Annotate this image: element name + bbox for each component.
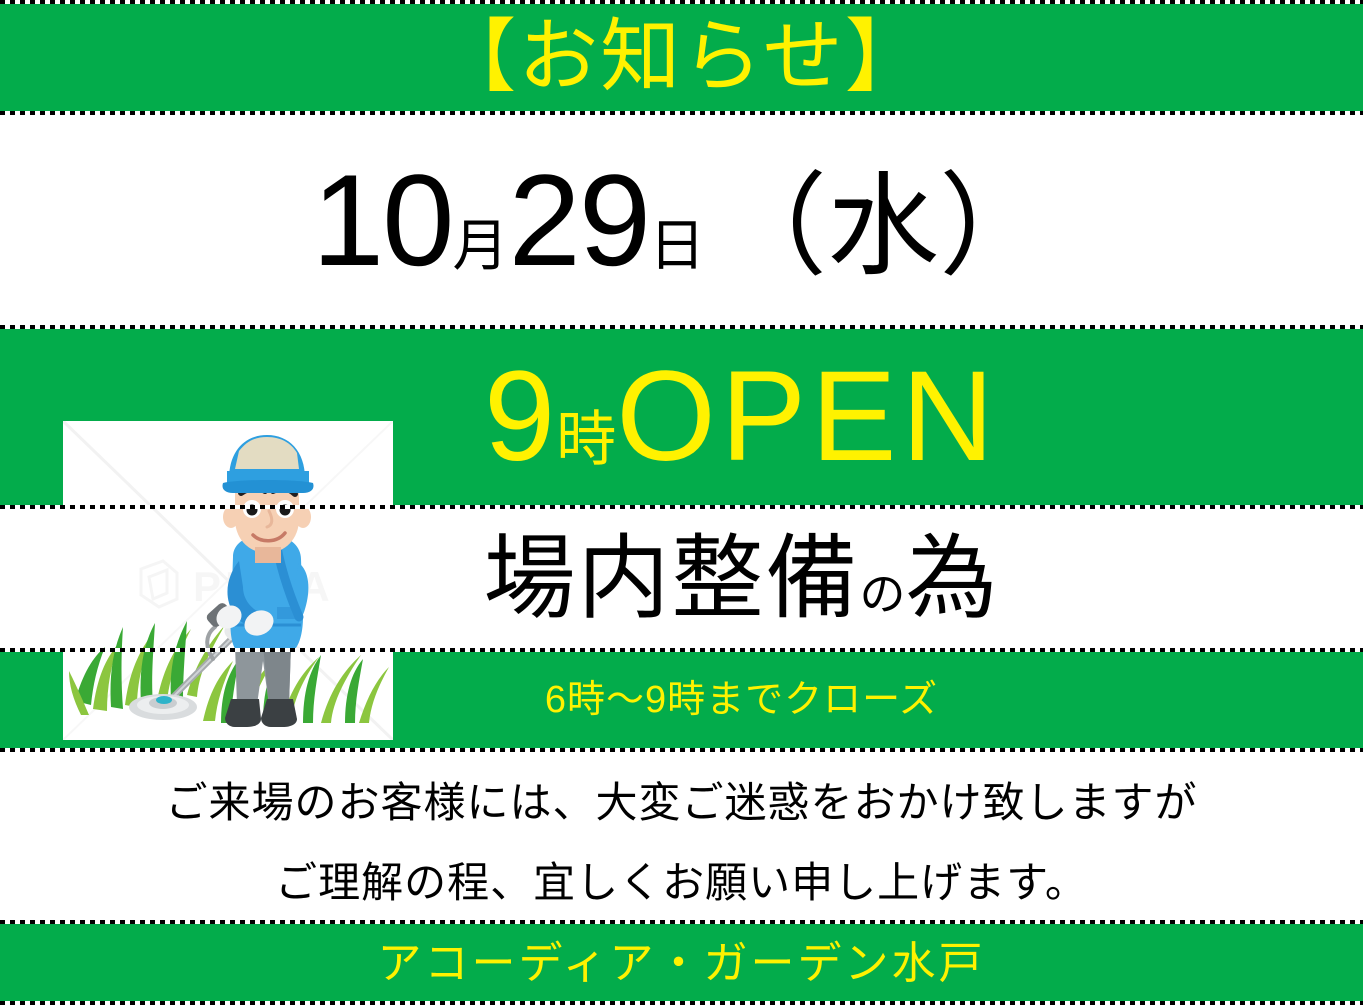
divider-reason-closehours bbox=[0, 648, 1363, 652]
apology-line-1: ご来場のお客様には、大変ご迷惑をおかけ致しますが bbox=[0, 782, 1363, 824]
date-month-number: 10 bbox=[312, 155, 453, 285]
divider-open-reason bbox=[0, 505, 1363, 509]
close-hours-text: 6時～9時までクローズ bbox=[545, 681, 938, 719]
divider-bottom bbox=[0, 1001, 1363, 1005]
open-hour-number: 9 bbox=[484, 353, 556, 481]
notice-poster: 【お知らせ】 10 月 29 日 （水） 9 時 OPEN 場内整備 の 為 6… bbox=[0, 0, 1363, 1005]
apology-line-2: ご理解の程、宜しくお願い申し上げます。 bbox=[0, 862, 1363, 904]
date-line: 10 月 29 日 （水） bbox=[312, 155, 1051, 285]
date-day-number: 29 bbox=[509, 155, 650, 285]
divider-header-date bbox=[0, 111, 1363, 115]
worker-mowing-grass-illustration: PIXTA bbox=[63, 421, 393, 740]
divider-top bbox=[0, 0, 1363, 4]
open-hour-unit: 時 bbox=[556, 410, 616, 470]
venue-name: アコーディア・ガーデン水戸 bbox=[378, 942, 986, 986]
footer-band: アコーディア・ガーデン水戸 bbox=[0, 922, 1363, 1005]
reason-line: 場内整備 の 為 bbox=[483, 533, 999, 625]
open-time-line: 9 時 OPEN bbox=[484, 353, 999, 481]
header-band: 【お知らせ】 bbox=[0, 0, 1363, 113]
divider-date-open bbox=[0, 325, 1363, 329]
notice-headline: 【お知らせ】 bbox=[436, 17, 926, 97]
reason-suffix: 為 bbox=[906, 533, 1000, 625]
reason-particle: の bbox=[860, 571, 906, 617]
date-month-unit: 月 bbox=[453, 218, 509, 274]
date-day-unit: 日 bbox=[649, 218, 705, 274]
divider-apology-footer bbox=[0, 920, 1363, 924]
reason-main: 場内整備 bbox=[483, 533, 859, 625]
date-weekday: （水） bbox=[715, 171, 1051, 283]
divider-closehours-apology bbox=[0, 748, 1363, 752]
open-word: OPEN bbox=[616, 353, 999, 481]
date-band: 10 月 29 日 （水） bbox=[0, 113, 1363, 327]
